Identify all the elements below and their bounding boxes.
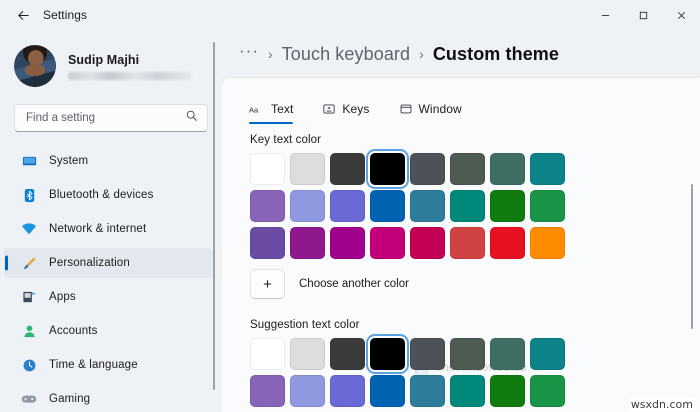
sidebar-label: Accounts xyxy=(49,325,98,337)
sidebar-label: Gaming xyxy=(49,393,90,405)
search-input[interactable] xyxy=(26,112,179,124)
profile-section[interactable]: Sudip Majhi xyxy=(0,30,222,92)
bluetooth-icon xyxy=(20,186,38,204)
profile-text: Sudip Majhi xyxy=(68,53,192,80)
profile-email-redacted xyxy=(68,72,192,80)
minimize-button[interactable] xyxy=(586,0,624,30)
paintbrush-icon xyxy=(20,254,38,272)
window-icon xyxy=(400,103,412,115)
breadcrumb-overflow-button[interactable]: ··· xyxy=(239,51,259,58)
breadcrumb-separator-icon: › xyxy=(419,46,424,62)
color-swatch[interactable] xyxy=(490,190,525,222)
system-icon xyxy=(20,152,38,170)
sidebar-item-apps[interactable]: Apps xyxy=(4,282,212,312)
title-bar: Settings xyxy=(0,0,700,30)
maximize-button[interactable] xyxy=(624,0,662,30)
gamepad-icon xyxy=(20,390,38,408)
back-arrow-icon[interactable] xyxy=(8,0,38,30)
color-swatch[interactable] xyxy=(450,153,485,185)
color-swatch[interactable] xyxy=(530,338,565,370)
apps-icon xyxy=(20,288,38,306)
color-swatch[interactable] xyxy=(410,227,445,259)
sidebar-item-personalization[interactable]: Personalization xyxy=(4,248,212,278)
color-swatch[interactable] xyxy=(370,375,405,407)
color-swatch[interactable] xyxy=(530,190,565,222)
color-swatch[interactable] xyxy=(330,190,365,222)
content-scrollbar-thumb[interactable] xyxy=(691,184,693,329)
tab-bar: Aa Text Keys xyxy=(222,78,700,124)
sidebar-item-system[interactable]: System xyxy=(4,146,212,176)
color-swatch[interactable] xyxy=(490,375,525,407)
sidebar-scrollbar-thumb[interactable] xyxy=(213,42,215,390)
color-swatch[interactable] xyxy=(290,227,325,259)
color-swatch[interactable] xyxy=(530,227,565,259)
color-swatch[interactable] xyxy=(530,375,565,407)
tab-text[interactable]: Aa Text xyxy=(249,102,293,124)
tab-label: Keys xyxy=(342,102,369,116)
wifi-icon xyxy=(20,220,38,238)
color-swatch[interactable] xyxy=(370,227,405,259)
color-swatch[interactable] xyxy=(330,153,365,185)
color-swatch[interactable] xyxy=(410,338,445,370)
sidebar-item-network-internet[interactable]: Network & internet xyxy=(4,214,212,244)
sidebar-label: System xyxy=(49,155,88,167)
content-scrollbar[interactable] xyxy=(691,184,694,404)
page-title: Custom theme xyxy=(433,44,559,65)
avatar xyxy=(14,45,56,87)
color-swatch[interactable] xyxy=(330,227,365,259)
color-swatch[interactable] xyxy=(290,153,325,185)
breadcrumb-separator-icon: › xyxy=(268,46,273,62)
color-swatch[interactable] xyxy=(490,153,525,185)
text-aa-icon: Aa xyxy=(249,104,264,115)
sidebar-scrollbar[interactable] xyxy=(213,42,216,397)
plus-icon[interactable]: + xyxy=(250,269,285,299)
color-swatch[interactable] xyxy=(450,227,485,259)
profile-name: Sudip Majhi xyxy=(68,53,192,67)
color-swatch[interactable] xyxy=(330,375,365,407)
sidebar-item-bluetooth-devices[interactable]: Bluetooth & devices xyxy=(4,180,212,210)
tab-label: Text xyxy=(271,102,293,116)
breadcrumb-link-touch-keyboard[interactable]: Touch keyboard xyxy=(282,44,410,65)
color-swatch[interactable] xyxy=(290,338,325,370)
sidebar-label: Time & language xyxy=(49,359,138,371)
close-button[interactable] xyxy=(662,0,700,30)
settings-card: Aa Text Keys xyxy=(222,78,700,412)
sidebar-item-accounts[interactable]: Accounts xyxy=(4,316,212,346)
color-swatch[interactable] xyxy=(410,190,445,222)
color-swatch[interactable] xyxy=(410,375,445,407)
sidebar-item-time-language[interactable]: Time & language xyxy=(4,350,212,380)
color-swatch[interactable] xyxy=(330,338,365,370)
color-swatch[interactable] xyxy=(370,338,405,370)
color-swatch[interactable] xyxy=(370,153,405,185)
sidebar-label: Apps xyxy=(49,291,76,303)
sidebar-label: Personalization xyxy=(49,257,130,269)
color-swatch[interactable] xyxy=(290,190,325,222)
tab-label: Window xyxy=(419,102,462,116)
clock-icon xyxy=(20,356,38,374)
search-box[interactable] xyxy=(14,104,208,132)
color-swatch[interactable] xyxy=(290,375,325,407)
section-title-suggestion-text-color: Suggestion text color xyxy=(222,319,700,331)
color-swatch[interactable] xyxy=(250,227,285,259)
tab-keys[interactable]: Keys xyxy=(323,102,369,124)
sidebar: Sudip Majhi xyxy=(0,30,222,412)
svg-text:Aa: Aa xyxy=(249,105,259,114)
breadcrumb: ··· › Touch keyboard › Custom theme xyxy=(222,30,700,78)
sidebar-nav: System Bluetooth & devices Network xyxy=(0,146,222,412)
content-area: ··· › Touch keyboard › Custom theme Aa T… xyxy=(222,30,700,412)
color-swatch[interactable] xyxy=(490,338,525,370)
key-icon xyxy=(323,103,335,115)
search-icon xyxy=(185,109,198,127)
account-icon xyxy=(20,322,38,340)
sidebar-label: Bluetooth & devices xyxy=(49,189,154,201)
choose-another-color-row[interactable]: + Choose another color xyxy=(222,269,700,299)
color-swatch[interactable] xyxy=(250,375,285,407)
choose-another-color-label: Choose another color xyxy=(299,278,409,290)
color-swatch[interactable] xyxy=(370,190,405,222)
color-swatch[interactable] xyxy=(490,227,525,259)
tab-window[interactable]: Window xyxy=(400,102,462,124)
settings-window: Settings Sudip Majhi xyxy=(0,0,700,412)
color-swatch[interactable] xyxy=(450,338,485,370)
section-title-key-text-color: Key text color xyxy=(222,134,700,146)
sidebar-item-gaming[interactable]: Gaming xyxy=(4,384,212,412)
color-swatch[interactable] xyxy=(250,153,285,185)
color-swatch[interactable] xyxy=(410,153,445,185)
color-swatch[interactable] xyxy=(250,190,285,222)
page-watermark: wsxdn.com xyxy=(629,398,695,411)
color-swatch[interactable] xyxy=(530,153,565,185)
color-swatch[interactable] xyxy=(450,375,485,407)
color-swatch[interactable] xyxy=(450,190,485,222)
sidebar-label: Network & internet xyxy=(49,223,146,235)
window-title: Settings xyxy=(43,8,87,22)
key-text-color-swatch-grid xyxy=(222,153,700,259)
color-swatch[interactable] xyxy=(250,338,285,370)
search-wrapper xyxy=(0,92,222,132)
